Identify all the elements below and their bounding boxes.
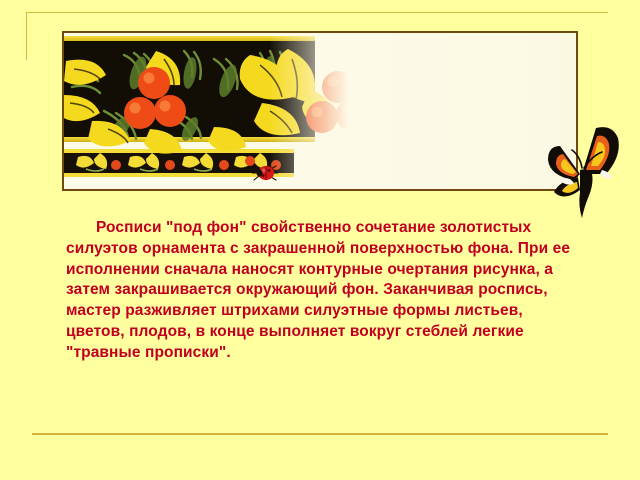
- strip-motifs: [76, 153, 281, 171]
- illustration-canvas: [64, 33, 576, 189]
- bottom-divider-rule: [32, 433, 608, 435]
- swallowtail-butterfly-icon: [536, 122, 638, 226]
- khokhloma-illustration: [62, 31, 578, 191]
- ladybug-icon: [252, 163, 278, 183]
- slide: Росписи "под фон" свойственно сочетание …: [0, 0, 640, 480]
- paint-to-sketch-fade: [269, 33, 576, 189]
- top-divider-rule: [26, 12, 608, 13]
- top-left-corner-bracket: [26, 12, 27, 60]
- body-paragraph: Росписи "под фон" свойственно сочетание …: [66, 218, 574, 364]
